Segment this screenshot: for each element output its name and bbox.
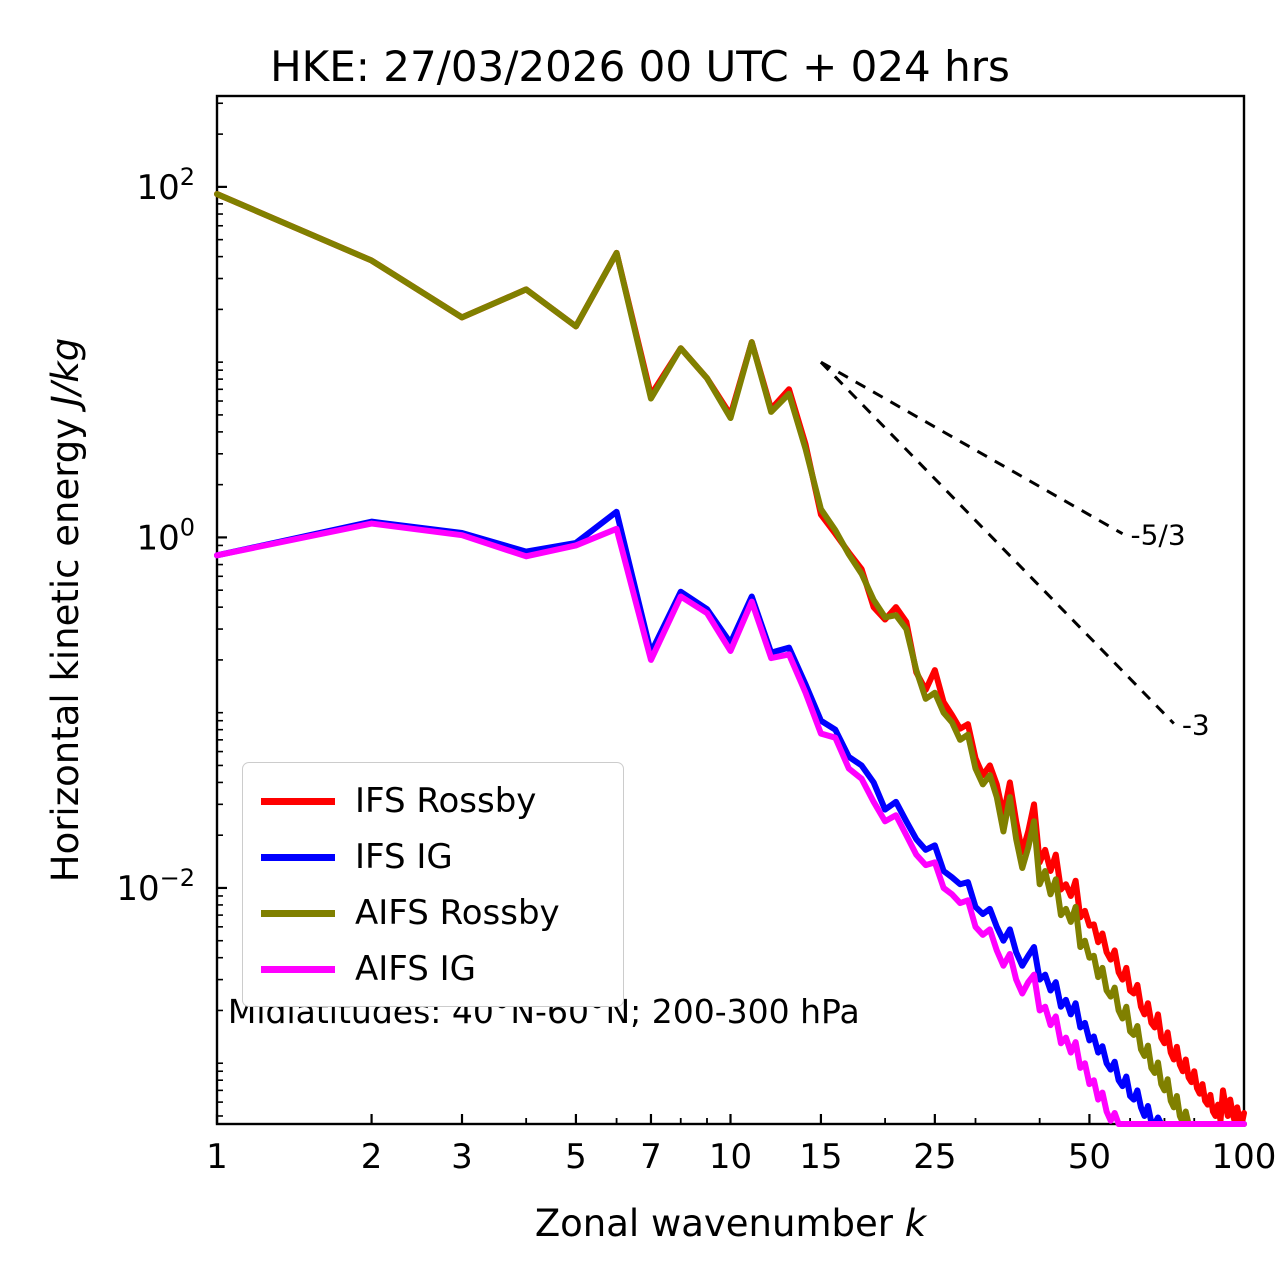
x-tick-label: 5 [565, 1137, 587, 1177]
x-tick-label: 10 [709, 1137, 752, 1177]
y-tick-label: 102 [136, 163, 195, 208]
legend-item-aifs-ig[interactable]: AIFS IG [261, 943, 476, 995]
legend-label: IFS IG [355, 840, 453, 874]
legend-item-ifs-rossby[interactable]: IFS Rossby [261, 775, 536, 827]
slope-reference-line [821, 362, 1174, 723]
x-tick-label: 25 [913, 1137, 956, 1177]
x-tick-label: 1 [206, 1137, 228, 1177]
legend-swatch-icon [261, 910, 335, 917]
legend-label: AIFS IG [355, 952, 476, 986]
chart-plot: 123571015255010010210010−2Zonal wavenumb… [0, 0, 1280, 1288]
legend-label: AIFS Rossby [355, 896, 560, 930]
legend-item-aifs-rossby[interactable]: AIFS Rossby [261, 887, 560, 939]
slope-label: -5/3 [1131, 519, 1186, 552]
legend-swatch-icon [261, 798, 335, 805]
legend-item-ifs-ig[interactable]: IFS IG [261, 831, 453, 883]
legend-swatch-icon [261, 854, 335, 861]
legend-label: IFS Rossby [355, 784, 536, 818]
x-tick-label: 100 [1212, 1137, 1277, 1177]
y-tick-label: 10−2 [116, 864, 195, 909]
slope-reference-line [821, 362, 1123, 534]
x-tick-label: 7 [640, 1137, 662, 1177]
x-tick-label: 15 [799, 1137, 842, 1177]
x-tick-label: 50 [1068, 1137, 1111, 1177]
legend-swatch-icon [261, 966, 335, 973]
slope-label: -3 [1182, 708, 1210, 741]
legend: IFS RossbyIFS IGAIFS RossbyAIFS IG [242, 762, 624, 1007]
chart-page: HKE: 27/03/2026 00 UTC + 024 hrs 1235710… [0, 0, 1280, 1288]
y-axis-title: Horizontal kinetic energy J/kg [44, 338, 87, 882]
x-tick-label: 2 [361, 1137, 383, 1177]
y-tick-label: 100 [136, 513, 195, 558]
x-tick-label: 3 [451, 1137, 473, 1177]
x-axis-title: Zonal wavenumber k [535, 1202, 928, 1245]
